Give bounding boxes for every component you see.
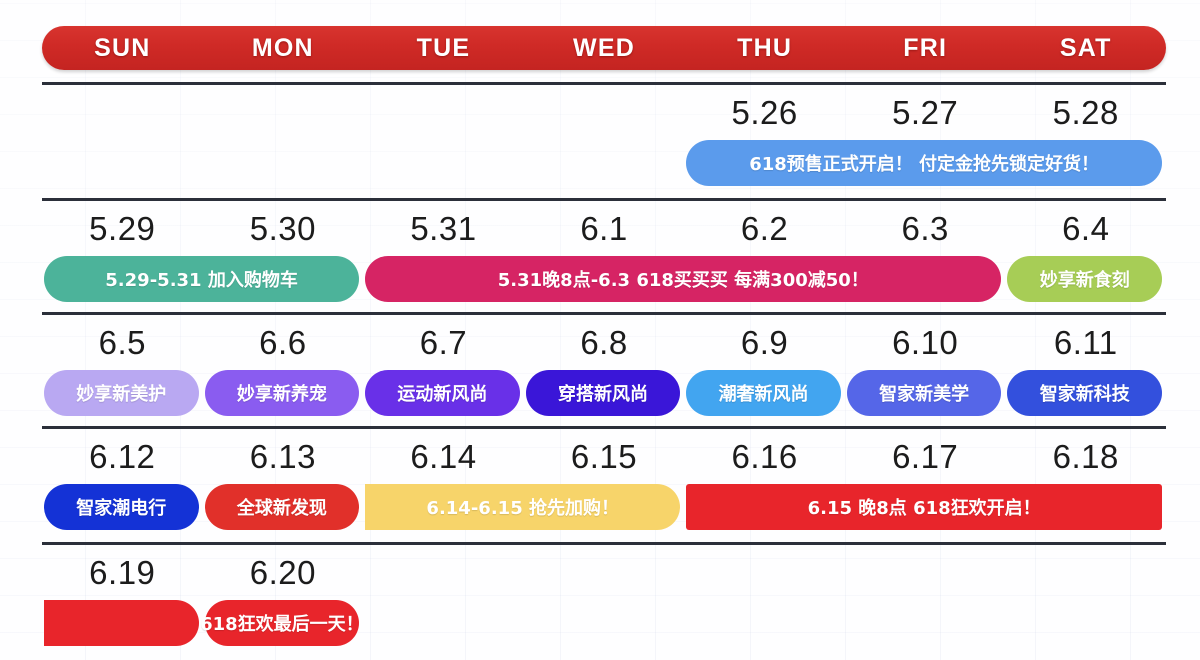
events-layer: 5.29-5.31 加入购物车5.31晚8点-6.3 618买买买 每满300减… bbox=[42, 256, 1166, 304]
day-number[interactable]: 6.4 bbox=[1005, 204, 1166, 254]
day-number-row: 5.265.275.28 bbox=[42, 88, 1166, 138]
weekday-label-sun: SUN bbox=[42, 34, 203, 63]
day-number-row: 6.56.66.76.86.96.106.11 bbox=[42, 318, 1166, 368]
event-banner[interactable]: 妙享新美护 bbox=[44, 370, 199, 416]
day-number[interactable]: 6.18 bbox=[1005, 432, 1166, 482]
day-number[interactable]: 6.11 bbox=[1005, 318, 1166, 368]
weekday-label-wed: WED bbox=[524, 34, 685, 63]
day-number[interactable]: 6.16 bbox=[684, 432, 845, 482]
week-divider bbox=[42, 82, 1166, 85]
event-banner[interactable]: 智家潮电行 bbox=[44, 484, 199, 530]
events-layer: 618狂欢最后一天！ bbox=[42, 600, 1166, 648]
day-number[interactable]: 5.31 bbox=[363, 204, 524, 254]
day-number[interactable]: 6.2 bbox=[684, 204, 845, 254]
day-number[interactable]: 5.26 bbox=[684, 88, 845, 138]
day-cell-empty bbox=[203, 88, 364, 138]
day-number[interactable]: 6.3 bbox=[845, 204, 1006, 254]
day-number[interactable]: 6.1 bbox=[524, 204, 685, 254]
day-number[interactable]: 6.17 bbox=[845, 432, 1006, 482]
event-banner[interactable]: 潮奢新风尚 bbox=[686, 370, 841, 416]
events-layer: 智家潮电行全球新发现6.14-6.15 抢先加购！6.15 晚8点 618狂欢开… bbox=[42, 484, 1166, 532]
events-layer: 妙享新美护妙享新养宠运动新风尚穿搭新风尚潮奢新风尚智家新美学智家新科技 bbox=[42, 370, 1166, 418]
weekday-label-fri: FRI bbox=[845, 34, 1006, 63]
day-number[interactable]: 6.5 bbox=[42, 318, 203, 368]
week-row: 6.56.66.76.86.96.106.11妙享新美护妙享新养宠运动新风尚穿搭… bbox=[42, 312, 1166, 424]
week-divider bbox=[42, 198, 1166, 201]
event-banner[interactable]: 运动新风尚 bbox=[365, 370, 520, 416]
day-number[interactable]: 6.15 bbox=[524, 432, 685, 482]
day-cell-empty bbox=[524, 88, 685, 138]
weekday-label-sat: SAT bbox=[1005, 34, 1166, 63]
day-number-row: 6.196.20 bbox=[42, 548, 1166, 598]
event-banner[interactable]: 5.31晚8点-6.3 618买买买 每满300减50！ bbox=[365, 256, 1001, 302]
day-number[interactable]: 6.12 bbox=[42, 432, 203, 482]
week-divider bbox=[42, 542, 1166, 545]
day-number[interactable]: 5.27 bbox=[845, 88, 1006, 138]
event-banner[interactable]: 全球新发现 bbox=[205, 484, 360, 530]
event-banner[interactable]: 6.14-6.15 抢先加购！ bbox=[365, 484, 680, 530]
day-number[interactable]: 6.9 bbox=[684, 318, 845, 368]
day-number[interactable]: 6.13 bbox=[203, 432, 364, 482]
day-cell-empty bbox=[684, 548, 845, 598]
event-banner[interactable]: 智家新美学 bbox=[847, 370, 1002, 416]
day-number-row: 5.295.305.316.16.26.36.4 bbox=[42, 204, 1166, 254]
event-banner[interactable]: 618预售正式开启！ 付定金抢先锁定好货！ bbox=[686, 140, 1162, 186]
day-number[interactable]: 5.29 bbox=[42, 204, 203, 254]
day-number[interactable]: 6.14 bbox=[363, 432, 524, 482]
day-cell-empty bbox=[524, 548, 685, 598]
event-banner[interactable]: 穿搭新风尚 bbox=[526, 370, 681, 416]
events-layer: 618预售正式开启！ 付定金抢先锁定好货！ bbox=[42, 140, 1166, 188]
week-row: 5.295.305.316.16.26.36.45.29-5.31 加入购物车5… bbox=[42, 198, 1166, 310]
day-number[interactable]: 6.8 bbox=[524, 318, 685, 368]
event-banner[interactable]: 6.15 晚8点 618狂欢开启！ bbox=[686, 484, 1162, 530]
event-banner[interactable]: 妙享新食刻 bbox=[1007, 256, 1162, 302]
day-number[interactable]: 6.20 bbox=[203, 548, 364, 598]
event-banner[interactable]: 妙享新养宠 bbox=[205, 370, 360, 416]
calendar-page: SUNMONTUEWEDTHUFRISAT 5.265.275.28618预售正… bbox=[0, 0, 1200, 660]
day-number[interactable]: 5.30 bbox=[203, 204, 364, 254]
day-cell-empty bbox=[363, 88, 524, 138]
weekday-label-thu: THU bbox=[684, 34, 845, 63]
week-divider bbox=[42, 312, 1166, 315]
day-number[interactable]: 5.28 bbox=[1005, 88, 1166, 138]
weekday-label-tue: TUE bbox=[363, 34, 524, 63]
week-divider bbox=[42, 426, 1166, 429]
week-row: 6.196.20618狂欢最后一天！ bbox=[42, 542, 1166, 654]
day-cell-empty bbox=[42, 88, 203, 138]
week-row: 6.126.136.146.156.166.176.18智家潮电行全球新发现6.… bbox=[42, 426, 1166, 538]
day-number[interactable]: 6.19 bbox=[42, 548, 203, 598]
weekday-label-mon: MON bbox=[203, 34, 364, 63]
day-cell-empty bbox=[1005, 548, 1166, 598]
day-cell-empty bbox=[845, 548, 1006, 598]
weekday-header-bar: SUNMONTUEWEDTHUFRISAT bbox=[42, 26, 1166, 70]
event-banner[interactable] bbox=[44, 600, 199, 646]
event-banner[interactable]: 618狂欢最后一天！ bbox=[205, 600, 360, 646]
day-cell-empty bbox=[363, 548, 524, 598]
week-row: 5.265.275.28618预售正式开启！ 付定金抢先锁定好货！ bbox=[42, 82, 1166, 194]
day-number[interactable]: 6.10 bbox=[845, 318, 1006, 368]
day-number[interactable]: 6.7 bbox=[363, 318, 524, 368]
day-number-row: 6.126.136.146.156.166.176.18 bbox=[42, 432, 1166, 482]
event-banner[interactable]: 5.29-5.31 加入购物车 bbox=[44, 256, 359, 302]
event-banner[interactable]: 智家新科技 bbox=[1007, 370, 1162, 416]
calendar-content: SUNMONTUEWEDTHUFRISAT 5.265.275.28618预售正… bbox=[42, 0, 1166, 660]
day-number[interactable]: 6.6 bbox=[203, 318, 364, 368]
